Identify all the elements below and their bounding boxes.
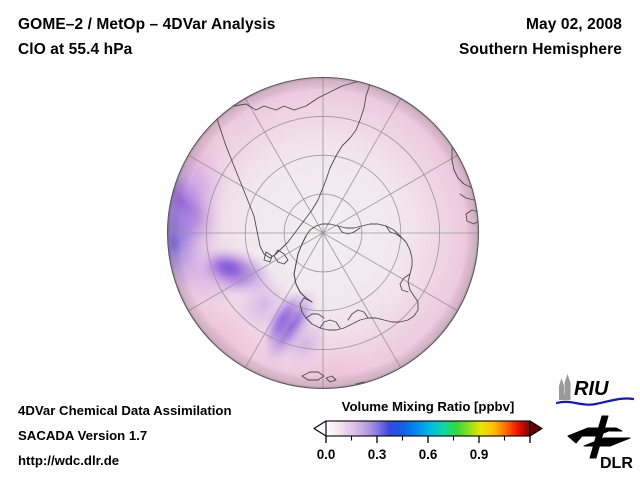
colorbar-title: Volume Mixing Ratio [ppbv] (312, 399, 544, 414)
dlr-wordmark: DLR (600, 455, 633, 472)
page-subtitle: ClO at 55.4 hPa (18, 41, 132, 59)
dlr-bird-icon (568, 416, 630, 458)
globe-map (160, 76, 486, 392)
ozone-map-figure: GOME–2 / MetOp – 4DVar Analysis ClO at 5… (0, 0, 640, 480)
globe-limb-shading (168, 78, 479, 389)
colorbar-gradient (312, 418, 544, 444)
colorbar-tick-1: 0.3 (368, 447, 387, 462)
riu-wordmark: RIU (574, 378, 609, 400)
region-label: Southern Hemisphere (459, 41, 622, 59)
riu-logo: RIU (556, 374, 634, 408)
footer-line-assimilation: 4DVar Chemical Data Assimilation (18, 403, 232, 418)
colorbar-tick-3: 0.9 (470, 447, 489, 462)
colorbar-tick-2: 0.6 (419, 447, 438, 462)
footer-line-version: SACADA Version 1.7 (18, 428, 147, 443)
colorbar-tick-labels: 0.0 0.3 0.6 0.9 (312, 447, 544, 467)
riu-tower-icon (559, 374, 571, 400)
colorbar-tick-0: 0.0 (317, 447, 336, 462)
page-title: GOME–2 / MetOp – 4DVar Analysis (18, 16, 276, 34)
footer-line-url[interactable]: http://wdc.dlr.de (18, 453, 119, 468)
date-label: May 02, 2008 (526, 16, 622, 34)
dlr-logo: DLR (566, 414, 634, 472)
colorbar: Volume Mixing Ratio [ppbv] (312, 399, 544, 477)
